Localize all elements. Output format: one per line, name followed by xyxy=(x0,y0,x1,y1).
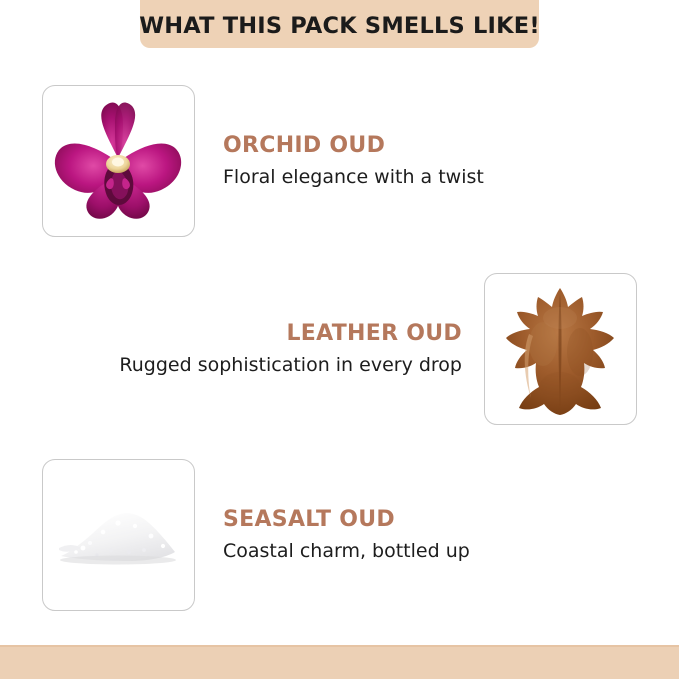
orchid-flower-image xyxy=(43,86,194,236)
seasalt-text-block: SEASALT OUD Coastal charm, bottled up xyxy=(195,508,470,563)
item-description-leather: Rugged sophistication in every drop xyxy=(119,354,462,377)
seasalt-thumbnail-card xyxy=(42,459,195,611)
scent-row-seasalt: SEASALT OUD Coastal charm, bottled up xyxy=(42,459,470,611)
item-title-leather: LEATHER OUD xyxy=(119,322,462,346)
leather-hide-image xyxy=(485,274,636,424)
bottom-accent-strip xyxy=(0,645,679,679)
header-banner: WHAT THIS PACK SMELLS LIKE! xyxy=(140,0,539,48)
page-title: WHAT THIS PACK SMELLS LIKE! xyxy=(139,13,540,39)
leather-thumbnail-card xyxy=(484,273,637,425)
leather-text-block: LEATHER OUD Rugged sophistication in eve… xyxy=(119,322,484,377)
item-description-seasalt: Coastal charm, bottled up xyxy=(223,540,470,563)
orchid-text-block: ORCHID OUD Floral elegance with a twist xyxy=(195,134,484,189)
item-title-orchid: ORCHID OUD xyxy=(223,134,484,158)
scent-row-orchid: ORCHID OUD Floral elegance with a twist xyxy=(42,85,484,237)
scent-row-leather: LEATHER OUD Rugged sophistication in eve… xyxy=(119,273,637,425)
item-description-orchid: Floral elegance with a twist xyxy=(223,166,484,189)
item-title-seasalt: SEASALT OUD xyxy=(223,508,470,532)
sea-salt-pile-image xyxy=(43,460,194,610)
orchid-thumbnail-card xyxy=(42,85,195,237)
